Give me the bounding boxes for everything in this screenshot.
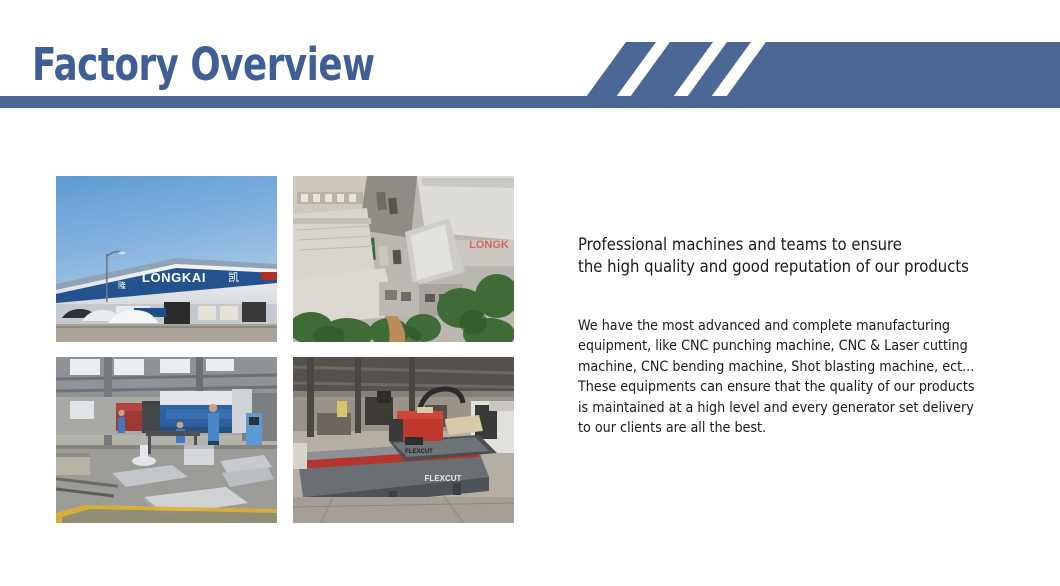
svg-text:FLEXCUT: FLEXCUT: [425, 474, 462, 483]
content-area: LONGKAI 隆 凯: [0, 130, 1060, 586]
intro-heading: Professional machines and teams to ensur…: [578, 234, 1008, 278]
photo-factory-aerial[interactable]: LONGK: [293, 176, 514, 342]
photo-gallery: LONGKAI 隆 凯: [56, 176, 514, 523]
svg-text:LONGKAI: LONGKAI: [142, 270, 206, 285]
header-banner: Factory Overview: [0, 0, 1060, 130]
svg-text:隆: 隆: [118, 280, 126, 290]
page-title: Factory Overview: [32, 40, 375, 90]
photo-laser-cutting-machine[interactable]: FLEXCUT FLEXCUT: [293, 357, 514, 523]
svg-text:FLEXCUT: FLEXCUT: [405, 449, 433, 455]
text-column: Professional machines and teams to ensur…: [578, 234, 1008, 278]
svg-text:凯: 凯: [228, 271, 239, 284]
photo-factory-facade[interactable]: LONGKAI 隆 凯: [56, 176, 277, 342]
photo-workshop-bending[interactable]: [56, 357, 277, 523]
body-paragraph: We have the most advanced and complete m…: [578, 316, 1008, 438]
